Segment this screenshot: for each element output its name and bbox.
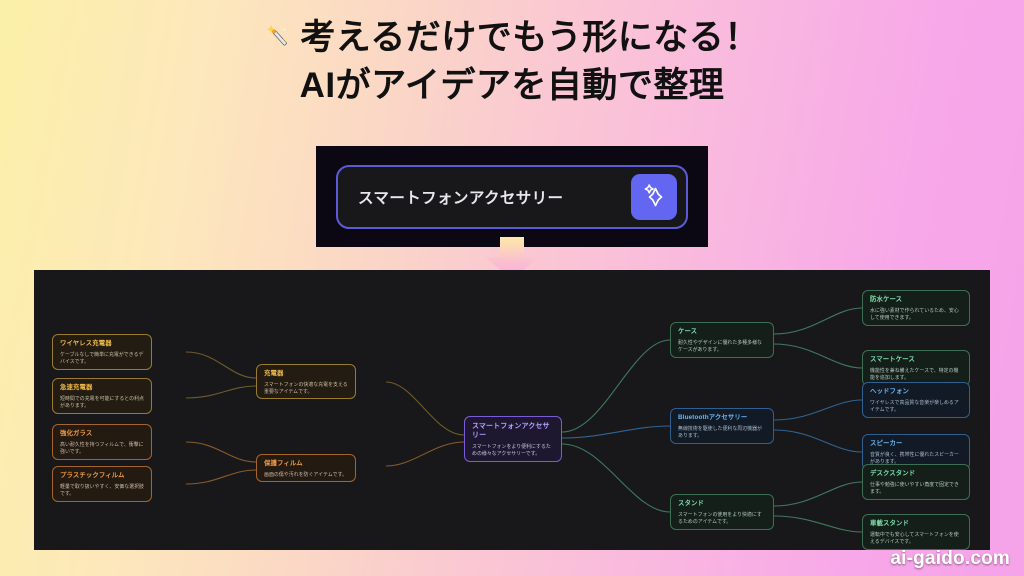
mindmap-edges xyxy=(34,270,990,550)
mindmap-node-charger[interactable]: 充電器 スマートフォンの快適な充電を支える重要なアイテムです。 xyxy=(256,364,356,399)
headline-text-1: 考えるだけでもう形になる！ xyxy=(300,18,759,57)
node-desc: ワイヤレスで高品質な音楽が楽しめるアイテムです。 xyxy=(870,400,962,415)
mindmap-node-waterproof-case[interactable]: 防水ケース 水に強い素材で作られているため、安心して使用できます。 xyxy=(862,290,970,326)
node-title: プラスチックフィルム xyxy=(60,472,144,481)
mindmap-node-fast-charger[interactable]: 急速充電器 短時間での充電を可能にするとの利点があります。 xyxy=(52,378,152,414)
node-title: スマートケース xyxy=(870,356,962,365)
node-desc: 運転中でも安心してスマートフォンを使えるデバイスです。 xyxy=(870,532,962,547)
node-desc: 水に強い素材で作られているため、安心して使用できます。 xyxy=(870,308,962,323)
node-title: 強化ガラス xyxy=(60,430,144,439)
node-title: スピーカー xyxy=(870,440,962,449)
headline-line-1: 考えるだけでもう形になる！ xyxy=(0,16,1024,64)
node-title: 車載スタンド xyxy=(870,520,962,529)
node-title: Bluetoothアクセサリー xyxy=(678,414,766,423)
node-title: 保護フィルム xyxy=(264,460,348,469)
node-desc: 仕事や勉強に使いやすい角度で固定できます。 xyxy=(870,482,962,497)
mindmap-node-tempered-glass[interactable]: 強化ガラス 高い耐久性を持つフィルムで、衝撃に強いです。 xyxy=(52,424,152,460)
mindmap-node-case[interactable]: ケース 耐久性やデザインに優れた多種多様なケースがあります。 xyxy=(670,322,774,358)
mindmap-node-stand[interactable]: スタンド スマートフォンの使用をより快適にするためのアイテムです。 xyxy=(670,494,774,530)
mindmap-node-headphone[interactable]: ヘッドフォン ワイヤレスで高品質な音楽が楽しめるアイテムです。 xyxy=(862,382,970,418)
magic-wand-icon xyxy=(264,19,294,64)
node-title: 充電器 xyxy=(264,370,348,379)
sparkle-icon xyxy=(641,182,667,211)
mindmap-node-center[interactable]: スマートフォンアクセサリー スマートフォンをより便利にするための様々なアクセサリ… xyxy=(464,416,562,462)
prompt-input[interactable]: スマートフォンアクセサリー xyxy=(358,186,631,208)
node-title: ワイヤレス充電器 xyxy=(60,340,144,349)
watermark: ai-gaido.com xyxy=(890,548,1010,570)
node-desc: 軽量で取り扱いやすく、安価な選択肢です。 xyxy=(60,484,144,499)
mindmap-node-desk-stand[interactable]: デスクスタンド 仕事や勉強に使いやすい角度で固定できます。 xyxy=(862,464,970,500)
node-desc: スマートフォンの快適な充電を支える重要なアイテムです。 xyxy=(264,382,348,397)
node-desc: 無線技術を駆使した便利な周辺機器があります。 xyxy=(678,426,766,441)
node-title: ヘッドフォン xyxy=(870,388,962,397)
node-title: デスクスタンド xyxy=(870,470,962,479)
prompt-input-wrapper[interactable]: スマートフォンアクセサリー xyxy=(336,165,688,229)
generate-button[interactable] xyxy=(631,174,677,220)
mindmap-node-car-stand[interactable]: 車載スタンド 運転中でも安心してスマートフォンを使えるデバイスです。 xyxy=(862,514,970,550)
node-desc: 機能性を兼ね備えたケースで、特定の機能を追加します。 xyxy=(870,368,962,383)
slide-stage: 考えるだけでもう形になる！ AIがアイデアを自動で整理 スマートフォンアクセサリ… xyxy=(0,0,1024,576)
node-title: スタンド xyxy=(678,500,766,509)
mindmap-node-smart-case[interactable]: スマートケース 機能性を兼ね備えたケースで、特定の機能を追加します。 xyxy=(862,350,970,386)
node-desc: 高い耐久性を持つフィルムで、衝撃に強いです。 xyxy=(60,442,144,457)
node-title: スマートフォンアクセサリー xyxy=(472,422,554,441)
prompt-panel: スマートフォンアクセサリー xyxy=(316,146,708,247)
node-desc: スマートフォンの使用をより快適にするためのアイテムです。 xyxy=(678,512,766,527)
node-desc: 短時間での充電を可能にするとの利点があります。 xyxy=(60,396,144,411)
mindmap-canvas[interactable]: スマートフォンアクセサリー スマートフォンをより便利にするための様々なアクセサリ… xyxy=(34,270,990,550)
node-desc: 画面の傷や汚れを防ぐアイテムです。 xyxy=(264,472,348,479)
mindmap-node-wireless-charger[interactable]: ワイヤレス充電器 ケーブルなしで簡単に充電ができるデバイスです。 xyxy=(52,334,152,370)
node-desc: スマートフォンをより便利にするための様々なアクセサリーです。 xyxy=(472,444,554,459)
page-title: 考えるだけでもう形になる！ AIがアイデアを自動で整理 xyxy=(0,16,1024,109)
mindmap-node-bluetooth-accessory[interactable]: Bluetoothアクセサリー 無線技術を駆使した便利な周辺機器があります。 xyxy=(670,408,774,444)
node-title: 防水ケース xyxy=(870,296,962,305)
node-desc: ケーブルなしで簡単に充電ができるデバイスです。 xyxy=(60,352,144,367)
node-desc: 耐久性やデザインに優れた多種多様なケースがあります。 xyxy=(678,340,766,355)
headline-line-2: AIがアイデアを自動で整理 xyxy=(0,64,1024,109)
node-title: 急速充電器 xyxy=(60,384,144,393)
node-title: ケース xyxy=(678,328,766,337)
mindmap-node-plastic-film[interactable]: プラスチックフィルム 軽量で取り扱いやすく、安価な選択肢です。 xyxy=(52,466,152,502)
mindmap-node-protective-film[interactable]: 保護フィルム 画面の傷や汚れを防ぐアイテムです。 xyxy=(256,454,356,482)
